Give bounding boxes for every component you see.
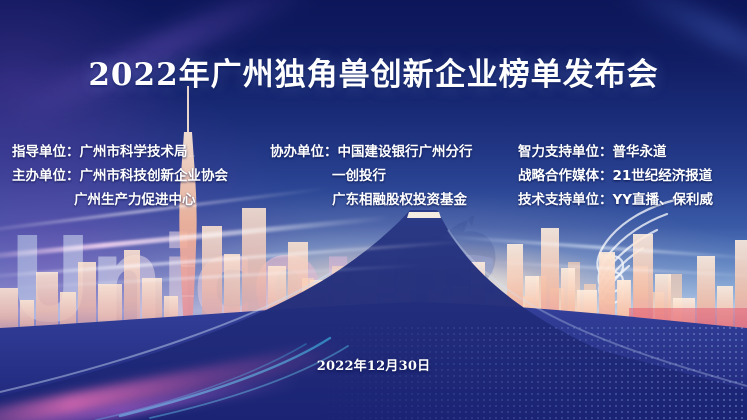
org-line: 广州生产力促进中心 <box>12 188 270 212</box>
organizations-block: 指导单位：广州市科学技术局 主办单位：广州市科技创新企业协会 广州生产力促进中心… <box>0 140 747 212</box>
org-column-guiding-and-hosting: 指导单位：广州市科学技术局 主办单位：广州市科技创新企业协会 广州生产力促进中心 <box>12 140 270 212</box>
org-line: 技术支持单位：YY直播、保利威 <box>518 188 713 212</box>
org-line: 广东相融股权投资基金 <box>270 188 518 212</box>
org-line: 一创投行 <box>270 164 518 188</box>
page-title: 2022年广州独角兽创新企业榜单发布会 <box>0 49 747 94</box>
event-poster: Unicorns <box>0 0 747 420</box>
event-date: 2022年12月30日 <box>0 355 747 374</box>
org-line: 智力支持单位：普华永道 <box>518 140 713 164</box>
org-column-co-organizers: 协办单位：中国建设银行广州分行 一创投行 广东相融股权投资基金 <box>270 140 518 212</box>
org-line: 指导单位：广州市科学技术局 <box>12 140 270 164</box>
org-column-support-partners: 智力支持单位：普华永道 战略合作媒体：21世纪经济报道 技术支持单位：YY直播、… <box>518 140 713 212</box>
org-line: 战略合作媒体：21世纪经济报道 <box>518 164 713 188</box>
org-line: 协办单位：中国建设银行广州分行 <box>270 140 518 164</box>
org-line: 主办单位：广州市科技创新企业协会 <box>12 164 270 188</box>
